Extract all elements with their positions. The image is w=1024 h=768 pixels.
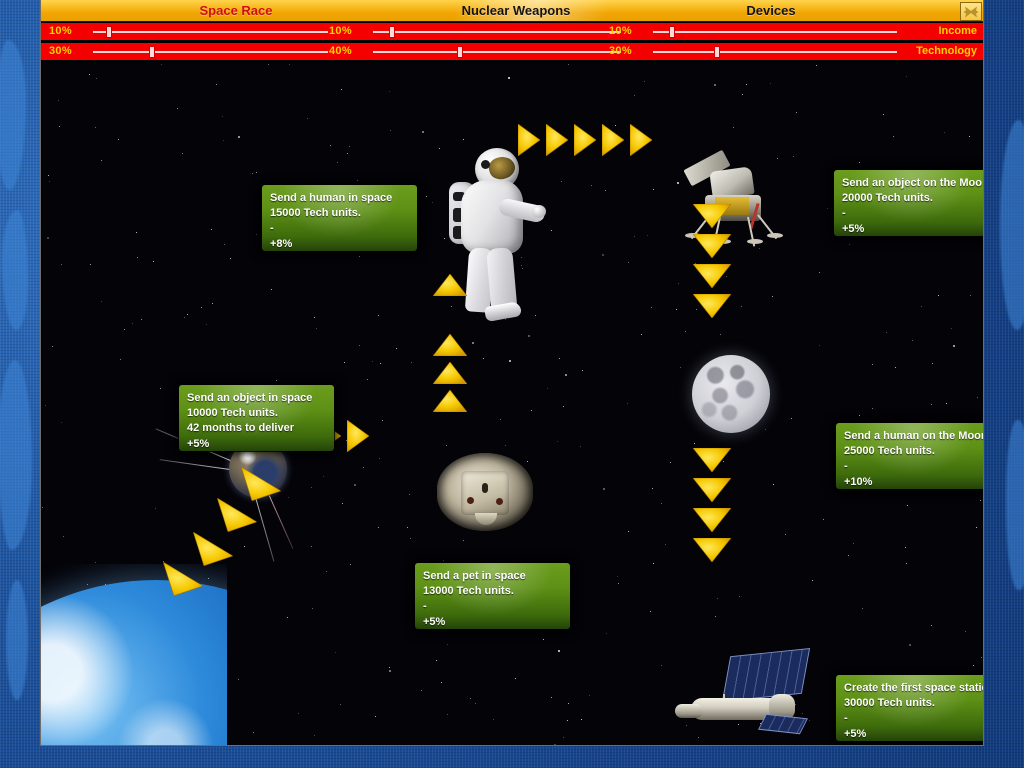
capsule-detail bbox=[496, 498, 503, 505]
wallpaper-landmass bbox=[1000, 120, 1024, 330]
slider-income-space-race[interactable]: 10% bbox=[49, 23, 341, 41]
capsule-panel bbox=[461, 471, 509, 515]
slider-percent-label: 30% bbox=[49, 45, 91, 57]
slider-knob[interactable] bbox=[389, 26, 395, 38]
flow-arrow-right bbox=[546, 124, 568, 156]
slider-track[interactable] bbox=[653, 31, 897, 33]
tech-card-title: Send a human on the Moon bbox=[844, 429, 984, 444]
category-title-devices: Devices bbox=[681, 3, 861, 18]
tech-card-bonus: +5% bbox=[423, 615, 563, 630]
flow-arrow-right bbox=[518, 124, 540, 156]
close-button[interactable] bbox=[960, 2, 982, 21]
game-window: Space Race Nuclear Weapons Devices 10% 1… bbox=[40, 0, 984, 746]
lander-footpad bbox=[767, 233, 783, 238]
tech-card-detail: - bbox=[270, 221, 410, 236]
tech-card-cost: 10000 Tech units. bbox=[187, 406, 327, 421]
budget-row-label-income: Income bbox=[938, 25, 977, 37]
slider-knob[interactable] bbox=[669, 26, 675, 38]
space-station-icon[interactable] bbox=[669, 650, 819, 742]
slider-track[interactable] bbox=[93, 31, 328, 33]
tech-card-space-station[interactable]: Create the first space station 30000 Tec… bbox=[836, 675, 984, 741]
flow-arrow-up bbox=[433, 274, 467, 296]
slider-technology-nuclear-weapons[interactable]: 40% bbox=[329, 43, 621, 61]
tech-card-detail: - bbox=[842, 206, 982, 221]
tech-card-detail: - bbox=[844, 711, 984, 726]
lander-footpad bbox=[747, 239, 763, 244]
slider-percent-label: 10% bbox=[49, 25, 91, 37]
wallpaper-landmass bbox=[0, 40, 26, 190]
tech-card-pet-space[interactable]: Send a pet in space 13000 Tech units. - … bbox=[415, 563, 570, 629]
tech-card-cost: 13000 Tech units. bbox=[423, 584, 563, 599]
slider-knob[interactable] bbox=[106, 26, 112, 38]
tech-card-bonus: +8% bbox=[270, 237, 410, 252]
wallpaper-landmass bbox=[0, 360, 32, 550]
slider-knob[interactable] bbox=[149, 46, 155, 58]
flow-arrow-down bbox=[693, 448, 731, 472]
desktop-background: Space Race Nuclear Weapons Devices 10% 1… bbox=[0, 0, 1024, 768]
flow-arrow-down bbox=[693, 294, 731, 318]
tech-card-cost: 15000 Tech units. bbox=[270, 206, 410, 221]
astronaut-glove bbox=[532, 205, 546, 218]
tech-card-title: Create the first space station bbox=[844, 681, 984, 696]
slider-percent-label: 40% bbox=[329, 45, 371, 57]
lunar-lander-icon[interactable] bbox=[675, 155, 795, 245]
tech-card-bonus: +5% bbox=[842, 222, 982, 237]
tech-card-title: Send a pet in space bbox=[423, 569, 563, 584]
tech-card-human-moon[interactable]: Send a human on the Moon 25000 Tech unit… bbox=[836, 423, 984, 489]
flow-arrow-down bbox=[693, 478, 731, 502]
tech-card-title: Send an object in space bbox=[187, 391, 327, 406]
wallpaper-landmass bbox=[1006, 420, 1024, 590]
astronaut-detail bbox=[481, 160, 490, 169]
budget-row-label-technology: Technology bbox=[916, 45, 977, 57]
tech-card-detail: - bbox=[844, 459, 984, 474]
tech-card-cost: 20000 Tech units. bbox=[842, 191, 982, 206]
slider-income-devices[interactable]: 10% bbox=[609, 23, 901, 41]
slider-percent-label: 10% bbox=[329, 25, 371, 37]
flow-arrow-down bbox=[693, 204, 731, 228]
category-title-nuclear-weapons: Nuclear Weapons bbox=[426, 3, 606, 18]
slider-track[interactable] bbox=[653, 51, 897, 53]
slider-percent-label: 10% bbox=[609, 25, 651, 37]
flow-arrow-up bbox=[433, 390, 467, 412]
wallpaper-landmass bbox=[2, 210, 28, 330]
tech-card-object-space[interactable]: Send an object in space 10000 Tech units… bbox=[179, 385, 334, 451]
slider-percent-label: 30% bbox=[609, 45, 651, 57]
pet-capsule-icon[interactable] bbox=[437, 453, 533, 531]
flow-arrow-down bbox=[693, 538, 731, 562]
flow-arrow-right bbox=[602, 124, 624, 156]
flow-arrow-down bbox=[693, 234, 731, 258]
capsule-detail bbox=[467, 497, 474, 504]
slider-knob[interactable] bbox=[714, 46, 720, 58]
station-solar-panel bbox=[722, 648, 810, 702]
slider-income-nuclear-weapons[interactable]: 10% bbox=[329, 23, 621, 41]
flow-arrow-right bbox=[630, 124, 652, 156]
tech-card-bonus: +10% bbox=[844, 475, 984, 490]
flow-arrow-right bbox=[574, 124, 596, 156]
slider-technology-devices[interactable]: 30% bbox=[609, 43, 901, 61]
tech-card-bonus: +5% bbox=[187, 437, 327, 452]
tech-card-title: Send an object on the Moon bbox=[842, 176, 982, 191]
slider-track[interactable] bbox=[373, 31, 621, 33]
slider-technology-space-race[interactable]: 30% bbox=[49, 43, 341, 61]
moon-icon bbox=[692, 355, 770, 433]
flow-arrow-down bbox=[693, 508, 731, 532]
slider-track[interactable] bbox=[373, 51, 621, 53]
budget-row-technology: 30% 40% 30% Technology bbox=[41, 43, 984, 61]
slider-knob[interactable] bbox=[457, 46, 463, 58]
tech-card-cost: 25000 Tech units. bbox=[844, 444, 984, 459]
tech-card-detail: - bbox=[423, 599, 563, 614]
flow-arrow-right bbox=[347, 420, 369, 452]
close-x-icon bbox=[963, 5, 979, 19]
capsule-detail bbox=[482, 483, 488, 493]
station-module bbox=[675, 704, 703, 718]
wallpaper-landmass bbox=[6, 580, 28, 700]
tech-card-human-space[interactable]: Send a human in space 15000 Tech units. … bbox=[262, 185, 417, 251]
tech-card-detail: 42 months to deliver bbox=[187, 421, 327, 436]
category-title-space-race: Space Race bbox=[151, 3, 321, 18]
tech-tree-canvas: Send a human in space 15000 Tech units. … bbox=[41, 62, 984, 746]
flow-arrow-down bbox=[693, 264, 731, 288]
budget-row-income: 10% 10% 10% Income bbox=[41, 23, 984, 41]
earth-globe-icon bbox=[41, 580, 227, 746]
flow-arrow-up bbox=[433, 334, 467, 356]
tech-card-object-moon[interactable]: Send an object on the Moon 20000 Tech un… bbox=[834, 170, 984, 236]
tech-card-cost: 30000 Tech units. bbox=[844, 696, 984, 711]
station-solar-panel bbox=[758, 714, 808, 735]
slider-track[interactable] bbox=[93, 51, 328, 53]
flow-arrow-up bbox=[433, 362, 467, 384]
title-bar: Space Race Nuclear Weapons Devices bbox=[41, 0, 984, 22]
tech-card-bonus: +5% bbox=[844, 727, 984, 742]
tech-card-title: Send a human in space bbox=[270, 191, 410, 206]
